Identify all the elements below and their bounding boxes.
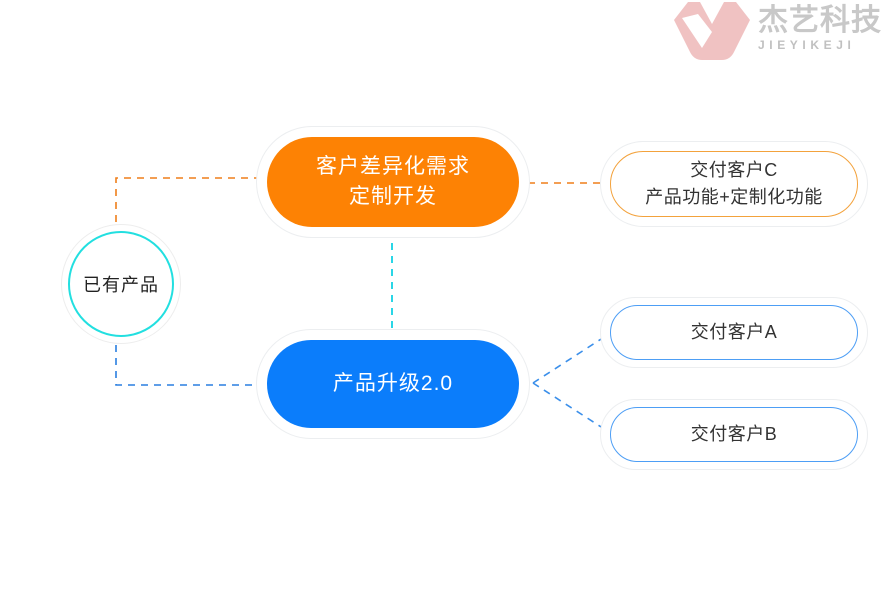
node-custom-dev[interactable]: 客户差异化需求 定制开发 [267, 137, 519, 227]
existing-product-label: 已有产品 [83, 271, 159, 297]
custom-dev-label-line2: 定制开发 [349, 182, 437, 212]
watermark-company-en: JIEYIKEJI [758, 37, 878, 53]
node-deliver-a[interactable]: 交付客户A [610, 305, 858, 360]
deliver-b-label: 交付客户B [691, 421, 778, 448]
diagram-canvas: 杰艺科技 JIEYIKEJI 已有产品 客户差异化需求 定制开发 产品升级2.0… [0, 0, 882, 600]
watermark-company-cn: 杰艺科技 [758, 5, 878, 37]
node-deliver-c[interactable]: 交付客户C 产品功能+定制化功能 [610, 151, 858, 217]
node-product-upgrade[interactable]: 产品升级2.0 [267, 340, 519, 428]
node-deliver-b[interactable]: 交付客户B [610, 407, 858, 462]
node-existing-product[interactable]: 已有产品 [68, 231, 174, 337]
custom-dev-label-line1: 客户差异化需求 [316, 152, 470, 182]
edge-existing-to-upgrade [116, 345, 268, 385]
deliver-a-label: 交付客户A [691, 319, 778, 346]
watermark-logo: 杰艺科技 JIEYIKEJI [672, 2, 878, 64]
edge-existing-to-custom-dev [116, 178, 268, 222]
deliver-c-label-line2: 产品功能+定制化功能 [645, 184, 823, 211]
product-upgrade-label: 产品升级2.0 [333, 369, 453, 399]
jieyi-shield-logo-icon [672, 2, 752, 60]
watermark-text: 杰艺科技 JIEYIKEJI [758, 5, 878, 53]
deliver-c-label-line1: 交付客户C [690, 157, 778, 184]
